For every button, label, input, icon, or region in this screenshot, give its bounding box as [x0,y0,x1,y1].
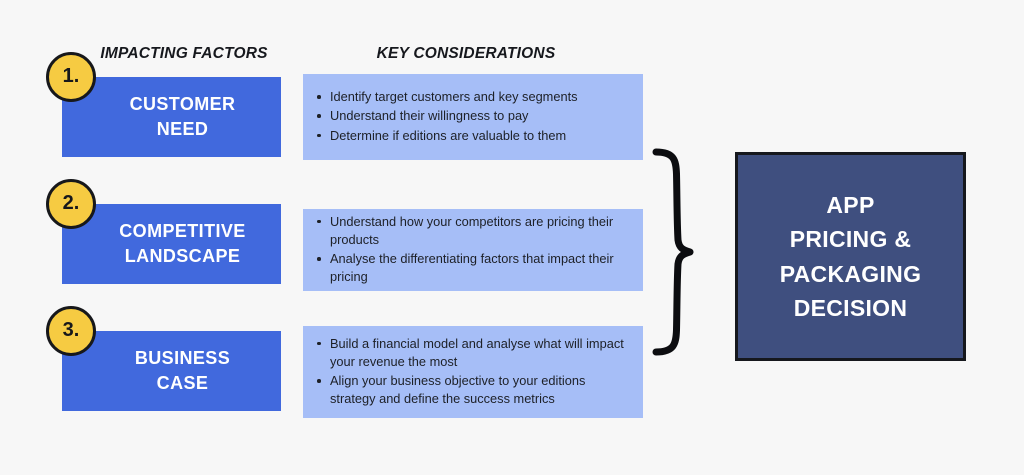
factor-box-2[interactable]: COMPETITIVE LANDSCAPE [62,204,281,284]
decision-outcome-box[interactable]: APP PRICING & PACKAGING DECISION [735,152,966,361]
list-item: Understand their willingness to pay [315,107,629,125]
considerations-panel-1[interactable]: Identify target customers and key segmen… [303,74,643,160]
factor-label-2: COMPETITIVE LANDSCAPE [119,219,245,269]
decision-outcome-label: APP PRICING & PACKAGING DECISION [780,188,922,326]
factor-box-3[interactable]: BUSINESS CASE [62,331,281,411]
diagram-canvas: IMPACTING FACTORS KEY CONSIDERATIONS 1. … [0,0,1024,475]
list-item: Align your business objective to your ed… [315,372,629,408]
column-header-key-considerations: KEY CONSIDERATIONS [374,45,558,63]
list-item: Analyse the differentiating factors that… [315,250,629,286]
list-item: Identify target customers and key segmen… [315,88,629,106]
step-number-badge-3: 3. [46,306,96,356]
step-number-label-1: 1. [63,66,80,86]
factor-label-3: BUSINESS CASE [135,346,230,396]
factor-row-1: 1. CUSTOMER NEED Identify target custome… [0,77,1024,157]
curly-brace-icon [650,148,720,358]
list-item: Determine if editions are valuable to th… [315,127,629,145]
step-number-badge-2: 2. [46,179,96,229]
considerations-list-2: Understand how your competitors are pric… [315,213,629,288]
step-number-badge-1: 1. [46,52,96,102]
list-item: Understand how your competitors are pric… [315,213,629,249]
list-item: Build a financial model and analyse what… [315,335,629,371]
column-header-impacting-factors: IMPACTING FACTORS [96,45,272,63]
step-number-label-3: 3. [63,320,80,340]
considerations-list-1: Identify target customers and key segmen… [315,88,629,145]
factor-label-1: CUSTOMER NEED [130,92,236,142]
considerations-list-3: Build a financial model and analyse what… [315,335,629,410]
step-number-label-2: 2. [63,193,80,213]
factor-box-1[interactable]: CUSTOMER NEED [62,77,281,157]
considerations-panel-3[interactable]: Build a financial model and analyse what… [303,326,643,418]
considerations-panel-2[interactable]: Understand how your competitors are pric… [303,209,643,291]
